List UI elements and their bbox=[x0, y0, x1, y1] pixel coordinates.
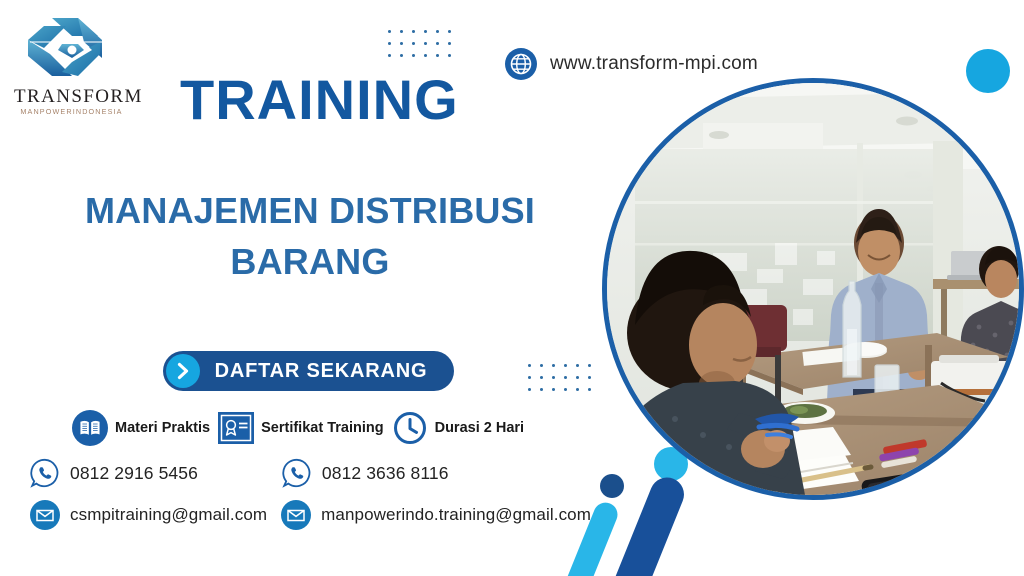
email-contacts: csmpitraining@gmail.com manpowerindo.tra… bbox=[30, 500, 591, 530]
email-contact-2[interactable]: manpowerindo.training@gmail.com bbox=[281, 500, 591, 530]
phone-contact-1[interactable]: 0812 2916 5456 bbox=[30, 458, 198, 488]
whatsapp-icon bbox=[282, 458, 312, 488]
feature-label: Materi Praktis bbox=[115, 420, 210, 436]
whatsapp-icon bbox=[30, 458, 60, 488]
email-contact-1[interactable]: csmpitraining@gmail.com bbox=[30, 500, 267, 530]
envelope-icon bbox=[30, 500, 60, 530]
training-session-photo-illustration bbox=[607, 83, 1019, 495]
open-book-icon bbox=[72, 410, 108, 446]
phone-contact-2[interactable]: 0812 3636 8116 bbox=[282, 458, 449, 488]
envelope-icon bbox=[281, 500, 311, 530]
training-photo bbox=[602, 78, 1024, 500]
feature-badges: Materi Praktis Sertifikat Training Duras… bbox=[72, 410, 524, 446]
email-address: manpowerindo.training@gmail.com bbox=[321, 505, 591, 525]
email-address: csmpitraining@gmail.com bbox=[70, 505, 267, 525]
poster-canvas: TRANSFORM MANPOWERINDONESIA TRAINING MAN… bbox=[0, 0, 1024, 576]
website-link[interactable]: www.transform-mpi.com bbox=[505, 48, 758, 80]
chevron-right-icon bbox=[166, 354, 200, 388]
phone-number: 0812 2916 5456 bbox=[70, 463, 198, 484]
feature-item-materi-praktis: Materi Praktis bbox=[72, 410, 210, 446]
certificate-icon bbox=[218, 412, 254, 444]
clock-icon bbox=[392, 410, 428, 446]
logo-tagline: MANPOWERINDONESIA bbox=[14, 108, 129, 115]
transform-diamond-logo-icon bbox=[22, 14, 122, 86]
feature-item-durasi: Durasi 2 Hari bbox=[392, 410, 524, 446]
feature-item-sertifikat-training: Sertifikat Training bbox=[218, 412, 383, 444]
feature-label: Durasi 2 Hari bbox=[435, 420, 524, 436]
website-url-text: www.transform-mpi.com bbox=[550, 53, 758, 75]
decor-dot-grid-middle bbox=[528, 364, 591, 391]
decor-dot-grid-top bbox=[388, 30, 451, 57]
page-title: MANAJEMEN DISTRIBUSI BARANG bbox=[40, 185, 580, 287]
accent-circle-decor bbox=[966, 49, 1010, 93]
page-eyebrow-title: TRAINING bbox=[180, 72, 459, 128]
register-now-label: DAFTAR SEKARANG bbox=[200, 360, 454, 383]
phone-contacts: 0812 2916 5456 0812 3636 8116 bbox=[30, 458, 449, 488]
phone-number: 0812 3636 8116 bbox=[322, 463, 449, 484]
logo-wordmark: TRANSFORM bbox=[14, 87, 129, 106]
feature-label: Sertifikat Training bbox=[261, 420, 383, 436]
brand-logo: TRANSFORM MANPOWERINDONESIA bbox=[14, 14, 129, 115]
globe-icon bbox=[505, 48, 537, 80]
register-now-button[interactable]: DAFTAR SEKARANG bbox=[163, 351, 454, 391]
